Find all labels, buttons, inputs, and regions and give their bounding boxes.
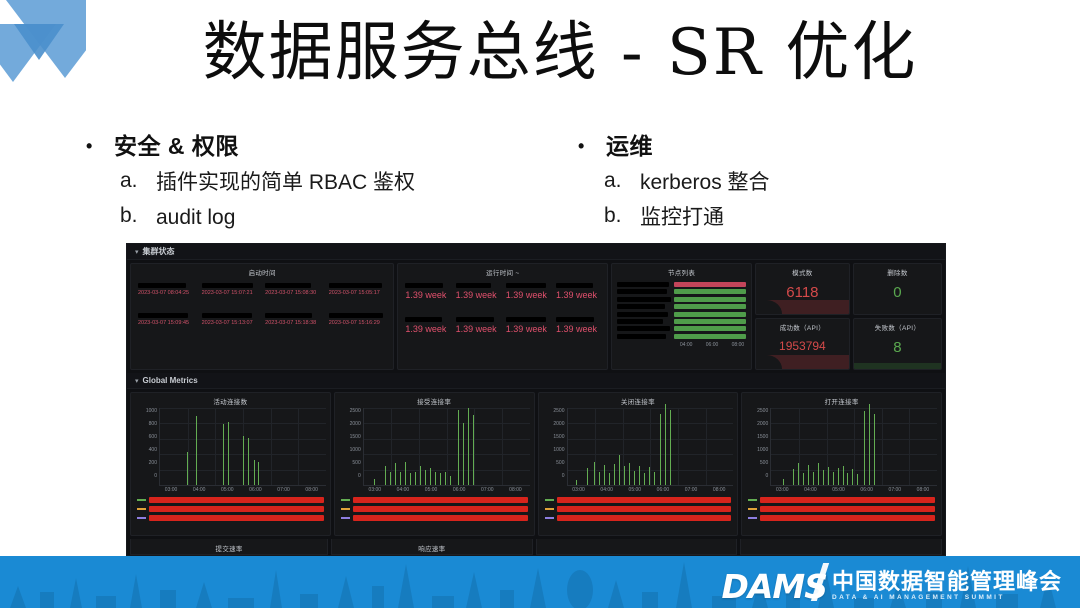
node-bar [674,312,746,317]
axis-tick: 06:00 [706,342,719,348]
metric-cell: 1.39 week [553,315,603,337]
node-labels [617,282,674,341]
axis-tick: 500 [352,460,360,466]
metric-value: 1.39 week [405,324,449,335]
data-spike [587,468,588,485]
list-marker: a. [86,169,156,193]
panel-bottom-chart-2: 响应速率 [331,539,532,555]
axis-tick: 07:00 [677,487,705,493]
metric-cell: 2023-03-07 15:18:38 [262,311,326,329]
footer-banner: DAMS 中国数据智能管理峰会 DATA & AI MANAGEMENT SUM… [0,556,1080,608]
panel-title: 节点列表 [612,264,751,279]
metric-cell: 1.39 week [453,281,503,303]
legend-color-swatch [341,508,350,510]
axis-tick: 04:00 [593,487,621,493]
sparkline [854,363,941,369]
axis-tick: 0 [358,473,361,479]
legend-color-swatch [748,517,757,519]
axis-tick: 07:00 [881,487,909,493]
legend-item[interactable] [137,515,324,521]
bullet-glyph-icon: • [578,131,606,161]
list-marker: b. [86,204,156,228]
legend-color-swatch [341,517,350,519]
metric-cell: 2023-03-07 15:09:45 [135,311,199,329]
data-spike [458,410,459,485]
data-spike [463,423,464,485]
slide-title: 数据服务总线 - SR 优化 [0,18,1080,88]
chart-y-axis: 25002000150010005000 [543,408,567,486]
chart-x-axis: 03:0004:0005:0006:0007:0008:00 [539,487,738,493]
axis-tick: 08:00 [705,487,733,493]
legend-color-swatch [748,508,757,510]
legend-label-redacted [760,497,935,503]
data-spike [196,416,197,485]
legend-label-redacted [353,506,528,512]
metric-cell: 2023-03-07 15:07:21 [199,281,263,299]
node-bar [674,326,746,331]
dams-english-subtitle: DATA & AI MANAGEMENT SUMMIT [832,593,1062,603]
start-time-grid: 2023-03-07 08:04:25 2023-03-07 15:07:21 … [131,279,393,328]
stat-value: 1953794 [779,340,826,352]
data-spike [187,452,188,485]
legend-label-redacted [149,515,324,521]
dashboard-screenshot: ▾集群状态 启动时间 2023-03-07 08:04:25 2023-03-0… [126,243,946,556]
panel-uptime: 运行时间 ~ 1.39 week 1.39 week 1.39 week 1.3… [397,263,608,370]
axis-tick: 0 [765,473,768,479]
gridline-vertical [882,408,883,485]
axis-tick: 08:00 [298,487,326,493]
data-spike [248,438,249,485]
data-spike [823,470,824,485]
chart-legend [742,493,941,521]
axis-tick: 05:00 [213,487,241,493]
data-spike [818,463,819,485]
metric-value: 2023-03-07 08:04:25 [138,290,196,297]
metric-cell: 1.39 week [402,281,452,303]
legend-label-redacted [760,515,935,521]
axis-tick: 2000 [553,421,564,427]
gridline-vertical [854,408,855,485]
bottom-chart-strip: 提交速率 响应速率 [127,539,945,555]
axis-tick: 08:00 [909,487,937,493]
list-item-label: kerberos 整合 [640,169,770,196]
axis-tick: 06:00 [241,487,269,493]
node-bar [674,297,746,302]
chart-canvas [363,408,530,486]
gridline-vertical [595,408,596,485]
data-spike [808,465,809,485]
panel-bottom-chart-3 [536,539,737,555]
data-spike [430,468,431,485]
gridline-vertical [502,408,503,485]
legend-color-swatch [137,517,146,519]
metric-value: 2023-03-07 15:13:07 [202,320,260,327]
metric-value: 2023-03-07 15:09:45 [138,320,196,327]
metric-value: 2023-03-07 15:18:38 [265,320,323,327]
chart-plot-area: 25002000150010005000 [539,408,738,486]
axis-tick: 500 [760,460,768,466]
legend-item[interactable] [341,506,528,512]
uptime-grid: 1.39 week 1.39 week 1.39 week 1.39 week … [398,279,607,337]
axis-tick: 2500 [350,408,361,414]
axis-tick: 2500 [553,408,564,414]
axis-tick: 1500 [350,434,361,440]
list-item: a. 插件实现的简单 RBAC 鉴权 [86,169,556,196]
section-title: 集群状态 [143,247,175,256]
bullet-column-right: • 运维 a. kerberos 整合 b. 监控打通 [578,131,998,231]
chart-plot-area: 10008006004002000 [131,408,330,486]
panel-chart-1: 活动连接数1000800600400200003:0004:0005:0006:… [130,392,331,536]
axis-tick: 2000 [757,421,768,427]
panel-api-failure: 失败数（API） 8 [853,318,942,370]
metric-cell: 2023-03-07 15:05:17 [326,281,390,299]
axis-tick: 05:00 [621,487,649,493]
data-spike [450,476,451,485]
chevron-down-icon[interactable]: ▾ [135,245,139,260]
bullet-glyph-icon: • [86,131,114,161]
bullet-column-left: • 安全 & 权限 a. 插件实现的简单 RBAC 鉴权 b. audit lo… [86,131,556,231]
gridline-vertical [447,408,448,485]
metric-cell: 1.39 week [402,315,452,337]
data-spike [468,408,469,485]
data-spike [374,479,375,485]
panel-title: 失败数（API） [875,319,920,334]
section-title: Global Metrics [143,376,198,385]
panel-chart-3: 关闭连接率2500200015001000500003:0004:0005:00… [538,392,739,536]
legend-item[interactable] [748,515,935,521]
legend-item[interactable] [341,497,528,503]
data-spike [385,466,386,485]
sparkline [756,355,849,369]
panel-title: 运行时间 ~ [398,264,607,279]
sparkline [756,300,849,314]
axis-tick: 1000 [146,408,157,414]
data-spike [594,462,595,485]
axis-tick: 06:00 [445,487,473,493]
panel-delete-count: 删除数 0 [853,263,942,315]
panel-bottom-chart-1: 提交速率 [130,539,328,555]
data-spike [415,472,416,485]
axis-tick: 07:00 [473,487,501,493]
data-spike [599,472,600,485]
data-spike [400,472,401,485]
data-spike [813,472,814,485]
axis-tick: 04:00 [185,487,213,493]
axis-tick: 200 [149,460,157,466]
chevron-down-icon[interactable]: ▾ [135,374,139,389]
metric-value: 1.39 week [506,324,550,335]
chart-x-axis: 03:0004:0005:0006:0007:0008:00 [742,487,941,493]
chart-y-axis: 25002000150010005000 [746,408,770,486]
data-spike [228,422,229,485]
metric-cell: 1.39 week [503,281,553,303]
data-spike [440,473,441,485]
legend-color-swatch [545,508,554,510]
gridline-vertical [706,408,707,485]
list-marker: b. [578,204,640,228]
metric-cell: 2023-03-07 15:08:30 [262,281,326,299]
axis-tick: 06:00 [649,487,677,493]
chart-canvas [159,408,326,486]
chart-row: 活动连接数1000800600400200003:0004:0005:0006:… [127,389,945,539]
axis-tick: 1500 [757,434,768,440]
gridline-vertical [909,408,910,485]
gridline-vertical [474,408,475,485]
chart-legend [335,493,534,521]
data-spike [644,473,645,485]
data-spike [798,463,799,485]
legend-item[interactable] [341,515,528,521]
legend-label-redacted [353,497,528,503]
axis-tick: 0 [154,473,157,479]
data-spike [649,467,650,485]
node-bar [674,289,746,294]
data-spike [665,404,666,485]
stat-value: 0 [893,285,901,300]
axis-tick: 2500 [757,408,768,414]
data-spike [634,471,635,485]
legend-item[interactable] [545,497,732,503]
data-spike [624,466,625,485]
data-spike [619,455,620,485]
list-item: b. audit log [86,204,556,231]
legend-label-redacted [760,506,935,512]
axis-tick: 1000 [350,447,361,453]
metric-value: 2023-03-07 15:07:21 [202,290,260,297]
legend-color-swatch [341,499,350,501]
axis-tick: 04:00 [796,487,824,493]
list-marker: a. [578,169,640,193]
metric-cell: 2023-03-07 15:13:07 [199,311,263,329]
panel-node-list: 节点列表 [611,263,752,370]
legend-item[interactable] [748,497,935,503]
data-spike [435,472,436,485]
dashboard-section-header-global[interactable]: ▾Global Metrics [127,373,945,389]
legend-color-swatch [545,517,554,519]
axis-tick: 03:00 [565,487,593,493]
axis-tick: 2000 [350,421,361,427]
metric-value: 1.39 week [456,290,500,301]
data-spike [852,469,853,485]
chart-plot-area: 25002000150010005000 [742,408,941,486]
data-spike [828,467,829,485]
legend-item[interactable] [748,506,935,512]
legend-color-swatch [748,499,757,501]
axis-tick: 1000 [553,447,564,453]
node-list-x-axis: 04:00 06:00 08:00 [612,341,751,348]
list-item-label: 监控打通 [640,204,724,231]
legend-label-redacted [557,506,732,512]
metric-value: 2023-03-07 15:05:17 [329,290,387,297]
metric-cell: 1.39 week [553,281,603,303]
data-spike [395,463,396,485]
legend-label-redacted [149,497,324,503]
dams-logo: DAMS 中国数据智能管理峰会 DATA & AI MANAGEMENT SUM… [721,570,1062,603]
gridline-vertical [188,408,189,485]
data-spike [420,466,421,485]
data-spike [869,404,870,485]
data-spike [614,464,615,485]
axis-tick: 03:00 [768,487,796,493]
data-spike [838,468,839,485]
metric-cell: 1.39 week [453,315,503,337]
panel-title: 活动连接数 [131,393,330,408]
data-spike [793,469,794,485]
axis-tick: 03:00 [361,487,389,493]
legend-item[interactable] [545,515,732,521]
metric-value: 2023-03-07 15:16:29 [329,320,387,327]
legend-item[interactable] [545,506,732,512]
panel-chart-4: 打开连接率2500200015001000500003:0004:0005:00… [741,392,942,536]
gridline-vertical [271,408,272,485]
axis-tick: 06:00 [853,487,881,493]
node-list-body [612,279,751,341]
node-bars [674,282,746,341]
data-spike [258,462,259,485]
metric-value: 1.39 week [556,324,600,335]
axis-tick: 07:00 [270,487,298,493]
data-spike [670,410,671,485]
node-bar [674,282,746,287]
panel-start-time: 启动时间 2023-03-07 08:04:25 2023-03-07 15:0… [130,263,394,370]
stat-value: 8 [893,340,901,355]
axis-tick: 1500 [553,434,564,440]
chart-x-axis: 03:0004:0005:0006:0007:0008:00 [335,487,534,493]
metric-value: 1.39 week [456,324,500,335]
chart-canvas [770,408,937,486]
data-spike [473,415,474,485]
axis-tick: 400 [149,447,157,453]
chart-x-axis: 03:0004:0005:0006:0007:0008:00 [131,487,330,493]
chart-legend [539,493,738,521]
bullet-heading-ops: • 运维 [578,131,998,161]
metric-cell: 2023-03-07 08:04:25 [135,281,199,299]
axis-tick: 1000 [757,447,768,453]
axis-tick: 03:00 [157,487,185,493]
data-spike [223,424,224,485]
data-spike [629,463,630,485]
data-spike [425,470,426,485]
data-spike [833,472,834,485]
panel-title: 关闭连接率 [539,393,738,408]
panel-title: 删除数 [887,264,907,279]
data-spike [254,460,255,485]
gridline-vertical [391,408,392,485]
panel-title: 打开连接率 [742,393,941,408]
legend-item[interactable] [137,497,324,503]
list-item-label: 插件实现的简单 RBAC 鉴权 [156,169,415,196]
axis-tick: 05:00 [417,487,445,493]
bullet-heading-label: 运维 [606,131,653,161]
bullet-heading-label: 安全 & 权限 [114,131,239,161]
data-spike [654,472,655,485]
metric-value: 1.39 week [506,290,550,301]
chart-y-axis: 25002000150010005000 [339,408,363,486]
panel-chart-2: 接受连接率2500200015001000500003:0004:0005:00… [334,392,535,536]
data-spike [576,480,577,485]
list-item: b. 监控打通 [578,204,998,231]
legend-item[interactable] [137,506,324,512]
metric-cell: 2023-03-07 15:16:29 [326,311,390,329]
gridline-vertical [215,408,216,485]
panel-api-success: 成功数（API） 1953794 [755,318,850,370]
chart-plot-area: 25002000150010005000 [335,408,534,486]
legend-label-redacted [557,497,732,503]
list-item: a. kerberos 整合 [578,169,998,196]
axis-tick: 800 [149,421,157,427]
data-spike [660,414,661,485]
data-spike [410,473,411,485]
node-bar [674,304,746,309]
data-spike [857,474,858,485]
legend-color-swatch [545,499,554,501]
data-spike [783,479,784,485]
data-spike [639,466,640,485]
chart-y-axis: 10008006004002000 [135,408,159,486]
legend-label-redacted [557,515,732,521]
stat-value: 6118 [786,285,818,300]
axis-tick: 04:00 [680,342,693,348]
bullet-heading-security: • 安全 & 权限 [86,131,556,161]
panel-schema-count: 模式数 6118 [755,263,850,315]
axis-tick: 08:00 [501,487,529,493]
data-spike [445,472,446,485]
data-spike [405,462,406,485]
list-item-label: audit log [156,204,235,231]
data-spike [874,414,875,485]
chart-legend [131,493,330,521]
data-spike [243,436,244,485]
data-spike [843,466,844,485]
metric-value: 2023-03-07 15:08:30 [265,290,323,297]
metric-value: 1.39 week [405,290,449,301]
node-bar [674,334,746,339]
chart-canvas [567,408,734,486]
axis-tick: 08:00 [732,342,745,348]
panel-title: 提交速率 [131,539,327,555]
gridline-vertical [799,408,800,485]
data-spike [847,473,848,485]
metric-cell: 1.39 week [503,315,553,337]
legend-label-redacted [149,506,324,512]
gridline-vertical [650,408,651,485]
node-bar [674,319,746,324]
panel-title: 接受连接率 [335,393,534,408]
axis-tick: 600 [149,434,157,440]
panel-title: 模式数 [792,264,812,279]
metric-value: 1.39 week [556,290,600,301]
axis-tick: 05:00 [825,487,853,493]
data-spike [864,411,865,485]
panel-title: 成功数（API） [780,319,825,334]
axis-tick: 0 [562,473,565,479]
legend-color-swatch [137,508,146,510]
legend-label-redacted [353,515,528,521]
legend-color-swatch [137,499,146,501]
gridline-vertical [298,408,299,485]
gridline-vertical [678,408,679,485]
dashboard-section-header-cluster[interactable]: ▾集群状态 [127,244,945,260]
data-spike [609,473,610,485]
data-spike [803,473,804,485]
data-spike [604,465,605,485]
dams-chinese-name: 中国数据智能管理峰会 [832,570,1062,593]
axis-tick: 04:00 [389,487,417,493]
data-spike [390,472,391,485]
panel-title: 启动时间 [131,264,393,279]
panel-title: 响应速率 [332,539,531,555]
axis-tick: 500 [556,460,564,466]
